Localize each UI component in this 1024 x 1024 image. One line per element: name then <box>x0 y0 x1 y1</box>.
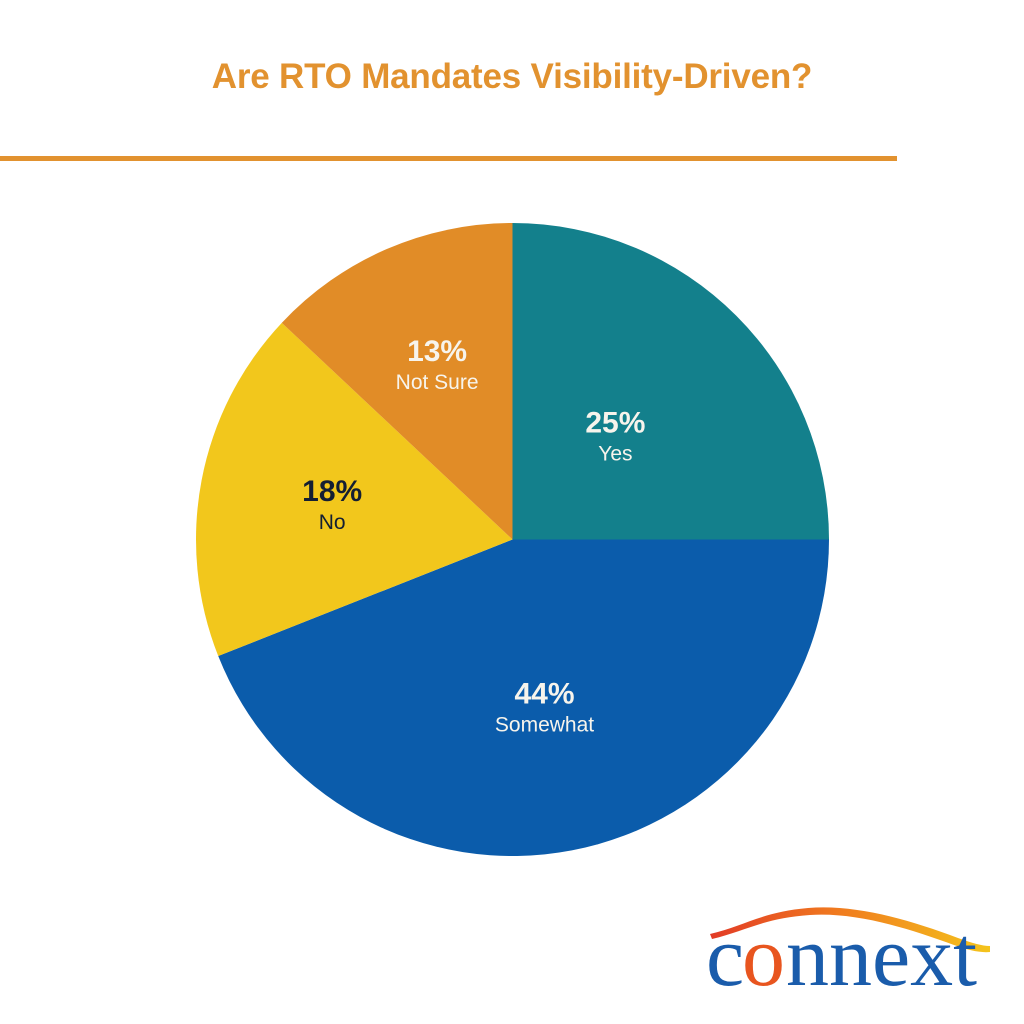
title-divider <box>0 156 897 161</box>
pie-chart-svg: 25% Yes 44% Somewhat 18% No 13% Not Sure <box>196 223 829 856</box>
infographic-canvas: Are RTO Mandates Visibility-Driven? 25% … <box>0 0 1024 1024</box>
connext-logo[interactable]: o c nnext <box>704 902 994 998</box>
pie-label-name-not-sure: Not Sure <box>396 371 479 394</box>
page-title: Are RTO Mandates Visibility-Driven? <box>212 58 812 97</box>
pie-chart: 25% Yes 44% Somewhat 18% No 13% Not Sure <box>196 223 829 856</box>
pie-label-value-yes: 25% <box>585 407 645 440</box>
pie-label-name-no: No <box>319 511 346 534</box>
pie-label-value-no: 18% <box>302 475 362 508</box>
connext-logo-svg: o c nnext <box>704 902 994 998</box>
pie-label-name-yes: Yes <box>598 443 632 466</box>
pie-label-value-not-sure: 13% <box>407 335 467 368</box>
pie-label-value-somewhat: 44% <box>514 677 574 710</box>
pie-slice-yes[interactable] <box>513 223 830 540</box>
logo-letters-nnext: nnext <box>786 908 977 998</box>
logo-letter-c: c <box>706 908 744 998</box>
logo-letter-o: o <box>742 908 785 998</box>
pie-label-name-somewhat: Somewhat <box>495 713 594 736</box>
title-block: Are RTO Mandates Visibility-Driven? <box>0 44 1024 110</box>
